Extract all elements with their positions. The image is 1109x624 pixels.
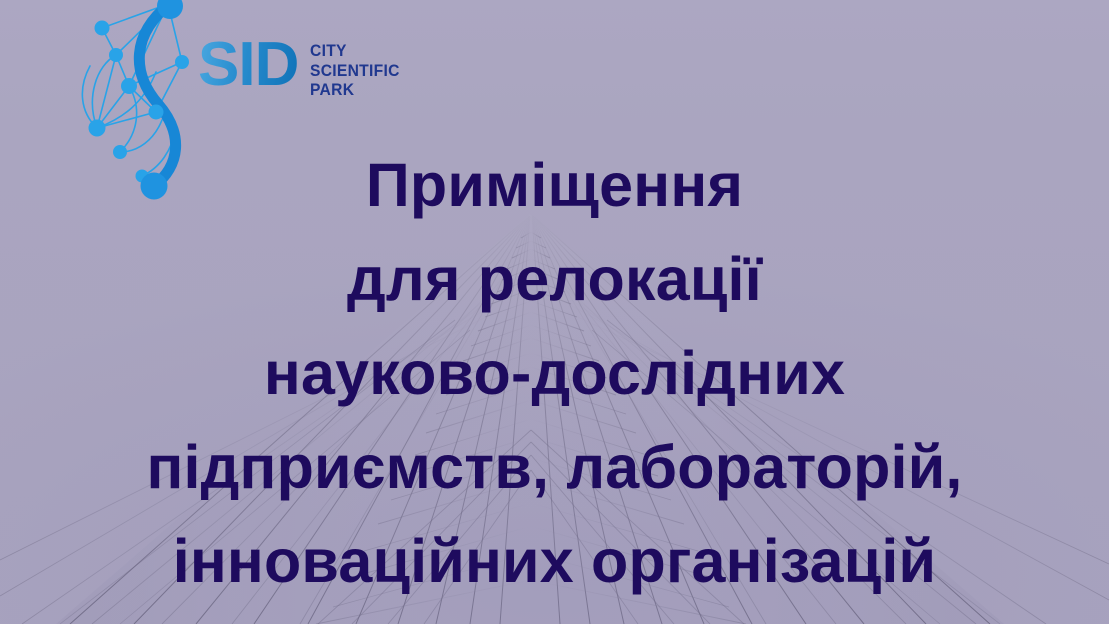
headline-line-5: інноваційних організацій bbox=[0, 514, 1109, 608]
logo-wordmark-group: SID CITY SCIENTIFIC PARK bbox=[198, 36, 408, 100]
logo-tagline-line-1: CITY bbox=[310, 41, 400, 61]
logo-tagline-line-3: PARK bbox=[310, 80, 400, 100]
slide-canvas: SID CITY SCIENTIFIC PARK Приміщення для … bbox=[0, 0, 1109, 624]
logo-tagline: CITY SCIENTIFIC PARK bbox=[310, 41, 400, 100]
headline-line-1: Приміщення bbox=[0, 138, 1109, 232]
headline: Приміщення для релокації науково-дослідн… bbox=[0, 138, 1109, 608]
headline-line-3: науково-дослідних bbox=[0, 326, 1109, 420]
logo-sid-text: SID bbox=[198, 36, 298, 93]
headline-line-4: підприємств, лабораторій, bbox=[0, 420, 1109, 514]
headline-line-2: для релокації bbox=[0, 232, 1109, 326]
logo-tagline-line-2: SCIENTIFIC bbox=[310, 61, 400, 81]
